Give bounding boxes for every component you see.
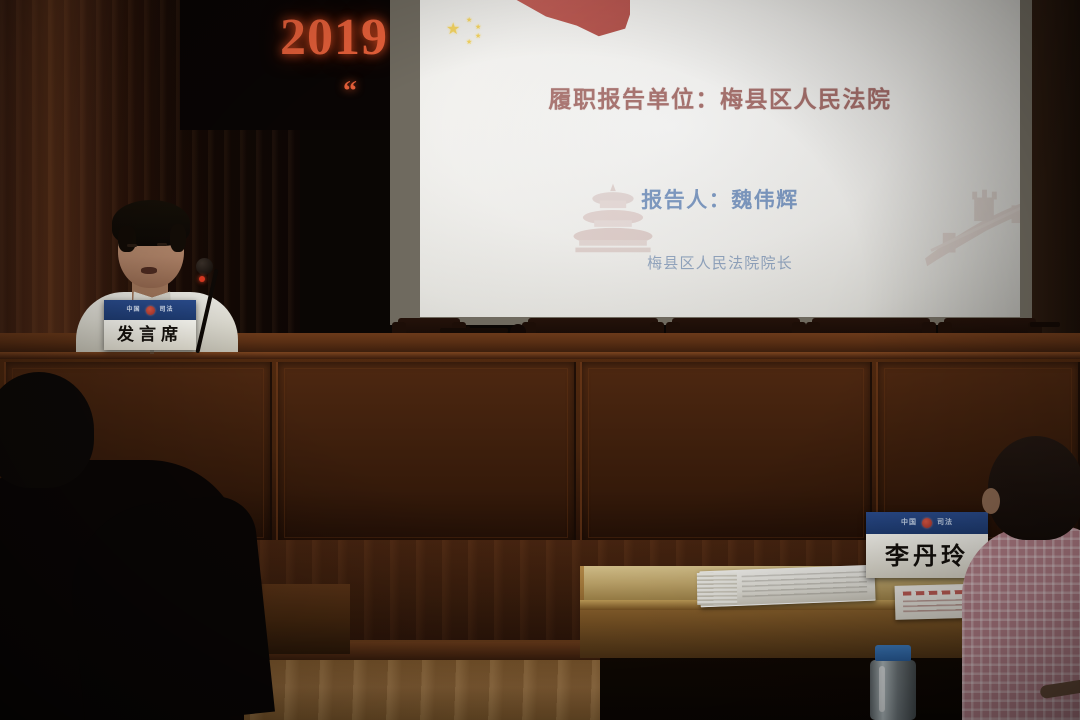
desk-panel bbox=[276, 362, 576, 544]
nameplate-header: 中国 司法 bbox=[104, 300, 196, 320]
led-banner-year: 2019 bbox=[280, 8, 388, 67]
projection-screen-frame: ★ ★ ★ ★ ★ bbox=[390, 0, 1032, 325]
slide-presenter: 报告人：魏伟辉 bbox=[420, 184, 1020, 214]
desk-edge bbox=[0, 352, 1080, 359]
cable bbox=[1030, 322, 1060, 327]
microphone-status-light bbox=[199, 276, 205, 282]
nameplate-body: 发言席 bbox=[104, 320, 196, 350]
conference-hall-photo: 2019 “ ★ ★ ★ ★ ★ bbox=[0, 0, 1080, 720]
led-banner: 2019 “ bbox=[180, 0, 410, 130]
water-bottle bbox=[866, 645, 920, 720]
nameplate-header-right: 司法 bbox=[160, 307, 174, 313]
desk-panel bbox=[580, 362, 872, 544]
foreground-attendee-right bbox=[966, 436, 1080, 720]
nameplate-header-left: 中国 bbox=[901, 519, 917, 526]
china-flag-icon: ★ ★ ★ ★ ★ bbox=[420, 0, 630, 64]
nameplate-header-right: 司法 bbox=[937, 519, 953, 526]
nameplate-header-left: 中国 bbox=[126, 307, 140, 313]
document-stack bbox=[699, 565, 875, 608]
slide-presenter-role: 梅县区人民法院院长 bbox=[420, 252, 1020, 273]
slide-title: 履职报告单位：梅县区人民法院 bbox=[420, 80, 1020, 114]
foreground-attendee-left bbox=[0, 372, 254, 720]
led-banner-quote-mark: “ bbox=[343, 76, 357, 108]
judicial-emblem-icon bbox=[922, 518, 932, 528]
judicial-emblem-icon bbox=[146, 306, 155, 315]
nameplate-name: 李丹玲 bbox=[885, 544, 969, 568]
nameplate-name: 发言席 bbox=[117, 327, 183, 344]
speaker-microphone bbox=[196, 258, 213, 275]
nameplate-speaker: 中国 司法 发言席 bbox=[104, 300, 196, 350]
presentation-slide: ★ ★ ★ ★ ★ bbox=[420, 0, 1020, 317]
